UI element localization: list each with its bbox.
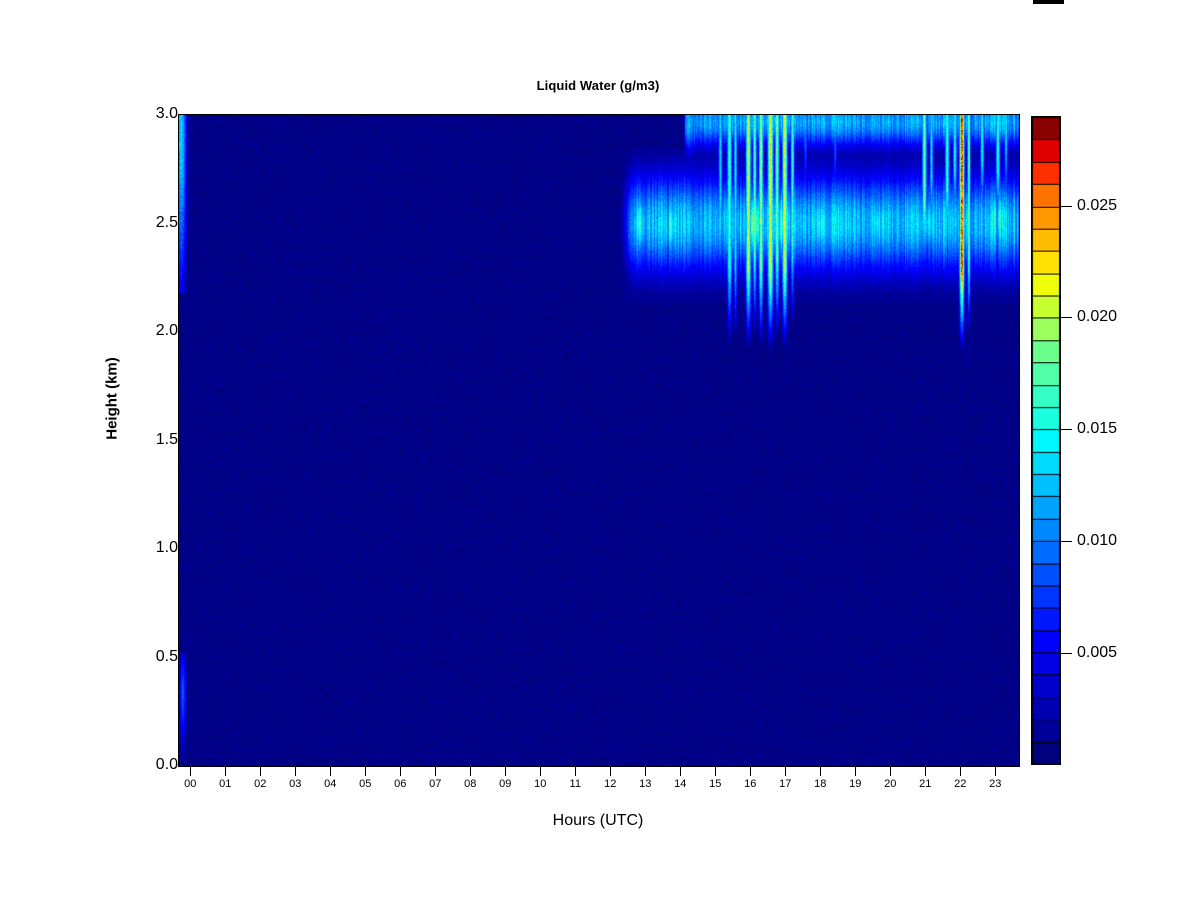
- x-axis-label: Hours (UTC): [178, 812, 1018, 830]
- x-tick-mark: [575, 766, 576, 776]
- heatmap-canvas: [179, 115, 1019, 766]
- heatmap-plot-area: [178, 114, 1020, 767]
- x-tick-mark: [330, 766, 331, 776]
- x-tick-label: 11: [555, 778, 595, 790]
- x-tick-label: 17: [765, 778, 805, 790]
- x-tick-mark: [960, 766, 961, 776]
- x-tick-label: 13: [625, 778, 665, 790]
- x-tick-label: 23: [975, 778, 1015, 790]
- colorbar-tick-label: 0.005: [1077, 644, 1117, 662]
- x-axis-ticks: 0001020304050607080910111213141516171819…: [0, 766, 1200, 806]
- x-tick-mark: [925, 766, 926, 776]
- y-axis-ticks: 0.00.51.01.52.02.53.0: [114, 0, 178, 900]
- colorbar-canvas: [1031, 116, 1061, 765]
- curtain-plot-figure: Liquid Water (g/m3) Height (km) 0.00.51.…: [0, 0, 1200, 900]
- x-tick-label: 02: [240, 778, 280, 790]
- x-tick-label: 18: [800, 778, 840, 790]
- x-tick-mark: [890, 766, 891, 776]
- x-tick-mark: [225, 766, 226, 776]
- x-tick-mark: [295, 766, 296, 776]
- y-tick-label: 2.5: [132, 214, 178, 232]
- colorbar-tick-label: 0.020: [1077, 308, 1117, 326]
- colorbar-tick-label: 0.015: [1077, 420, 1117, 438]
- x-tick-mark: [435, 766, 436, 776]
- x-tick-label: 05: [345, 778, 385, 790]
- y-tick-label: 3.0: [132, 105, 178, 123]
- x-tick-mark: [400, 766, 401, 776]
- x-tick-label: 10: [520, 778, 560, 790]
- x-tick-mark: [645, 766, 646, 776]
- x-tick-mark: [855, 766, 856, 776]
- x-tick-mark: [505, 766, 506, 776]
- colorbar: [1031, 116, 1061, 765]
- x-tick-label: 08: [450, 778, 490, 790]
- x-tick-label: 14: [660, 778, 700, 790]
- x-tick-label: 15: [695, 778, 735, 790]
- x-tick-mark: [470, 766, 471, 776]
- colorbar-tick-label: 0.010: [1077, 532, 1117, 550]
- x-tick-mark: [995, 766, 996, 776]
- x-tick-label: 19: [835, 778, 875, 790]
- colorbar-tick-mark: [1061, 206, 1072, 207]
- colorbar-ticks: 0.0050.0100.0150.0200.025: [1061, 0, 1200, 900]
- colorbar-tick-mark: [1061, 541, 1072, 542]
- x-tick-label: 06: [380, 778, 420, 790]
- y-tick-label: 0.5: [132, 648, 178, 666]
- x-tick-mark: [785, 766, 786, 776]
- colorbar-tick-label: 0.025: [1077, 197, 1117, 215]
- x-tick-label: 16: [730, 778, 770, 790]
- colorbar-tick-mark: [1061, 429, 1072, 430]
- x-tick-label: 01: [205, 778, 245, 790]
- x-tick-mark: [190, 766, 191, 776]
- x-tick-mark: [610, 766, 611, 776]
- x-tick-label: 03: [275, 778, 315, 790]
- x-tick-mark: [680, 766, 681, 776]
- colorbar-tick-mark: [1061, 317, 1072, 318]
- x-tick-mark: [540, 766, 541, 776]
- x-tick-label: 22: [940, 778, 980, 790]
- x-tick-label: 20: [870, 778, 910, 790]
- x-tick-label: 12: [590, 778, 630, 790]
- top-edge-mark: [1033, 0, 1064, 4]
- y-tick-label: 1.5: [132, 431, 178, 449]
- colorbar-tick-mark: [1061, 653, 1072, 654]
- x-tick-label: 00: [170, 778, 210, 790]
- x-tick-mark: [365, 766, 366, 776]
- plot-title: Liquid Water (g/m3): [178, 78, 1018, 93]
- x-tick-mark: [820, 766, 821, 776]
- y-tick-label: 2.0: [132, 322, 178, 340]
- x-tick-mark: [715, 766, 716, 776]
- x-tick-label: 09: [485, 778, 525, 790]
- x-tick-mark: [750, 766, 751, 776]
- x-tick-label: 07: [415, 778, 455, 790]
- x-tick-label: 21: [905, 778, 945, 790]
- x-tick-label: 04: [310, 778, 350, 790]
- x-tick-mark: [260, 766, 261, 776]
- y-tick-label: 1.0: [132, 539, 178, 557]
